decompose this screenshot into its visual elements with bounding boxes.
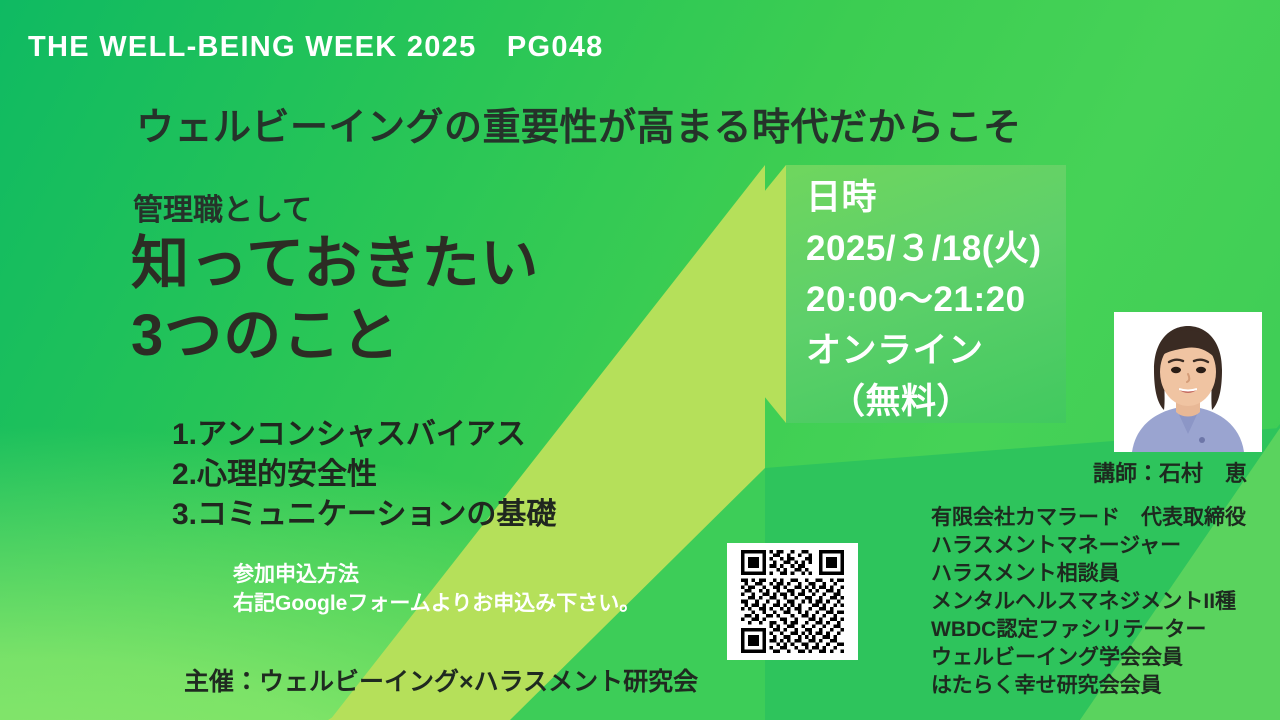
credential-item: ウェルビーイング学会会員 — [931, 644, 1246, 672]
speaker-portrait-photo — [1114, 312, 1262, 452]
apply-detail: 右記Googleフォームよりお申込み下さい。 — [233, 589, 640, 618]
topic-list: 1.アンコンシャスバイアス 2.心理的安全性 3.コミュニケーションの基礎 — [172, 415, 556, 535]
speaker-credentials: 有限会社カマラード 代表取締役 ハラスメントマネージャー ハラスメント相談員 メ… — [931, 504, 1246, 700]
organizer-line: 主催：ウェルビーイング×ハラスメント研究会 — [184, 662, 698, 698]
poster-canvas: 日時 2025/３/18(火) 20:00〜21:20 オンライン （無料） T… — [0, 0, 1280, 720]
topic-item: 3.コミュニケーションの基礎 — [172, 495, 556, 535]
credential-item: ハラスメントマネージャー — [931, 532, 1246, 560]
headline-main-line-2: 3つのこと — [131, 300, 539, 372]
price-value: （無料） — [806, 376, 1106, 427]
credential-item: ハラスメント相談員 — [931, 560, 1246, 588]
qr-code-matrix — [734, 550, 851, 653]
credential-item: WBDC認定ファシリテーター — [931, 616, 1246, 644]
credential-item: メンタルヘルスマネジメントII種 — [931, 588, 1246, 616]
credential-item: はたらく幸せ研究会会員 — [931, 672, 1246, 700]
topic-item: 1.アンコンシャスバイアス — [172, 415, 556, 455]
date-value: 2025/３/18(火) — [806, 223, 1106, 274]
date-label: 日時 — [806, 172, 1106, 223]
apply-heading: 参加申込方法 — [233, 560, 640, 589]
event-series-kicker: THE WELL-BEING WEEK 2025 PG048 — [28, 23, 604, 65]
format-value: オンライン — [806, 325, 1106, 376]
application-instructions: 参加申込方法 右記Googleフォームよりお申込み下さい。 — [233, 560, 640, 618]
portrait-illustration — [1114, 312, 1262, 452]
date-box-left-edge — [765, 165, 786, 423]
time-value: 20:00〜21:20 — [806, 274, 1106, 325]
audience-role-line: 管理職として — [133, 185, 312, 229]
headline-subtitle: ウェルビーイングの重要性が高まる時代だからこそ — [136, 96, 1022, 151]
credential-item: 有限会社カマラード 代表取締役 — [931, 504, 1246, 532]
qr-code-icon[interactable] — [727, 543, 858, 660]
topic-item: 2.心理的安全性 — [172, 455, 556, 495]
speaker-name: 講師：石村 恵 — [1093, 456, 1247, 488]
headline-main-line-1: 知っておきたい — [131, 228, 539, 300]
date-box-text: 日時 2025/３/18(火) 20:00〜21:20 オンライン （無料） — [806, 172, 1106, 427]
headline-main: 知っておきたい 3つのこと — [131, 228, 539, 372]
